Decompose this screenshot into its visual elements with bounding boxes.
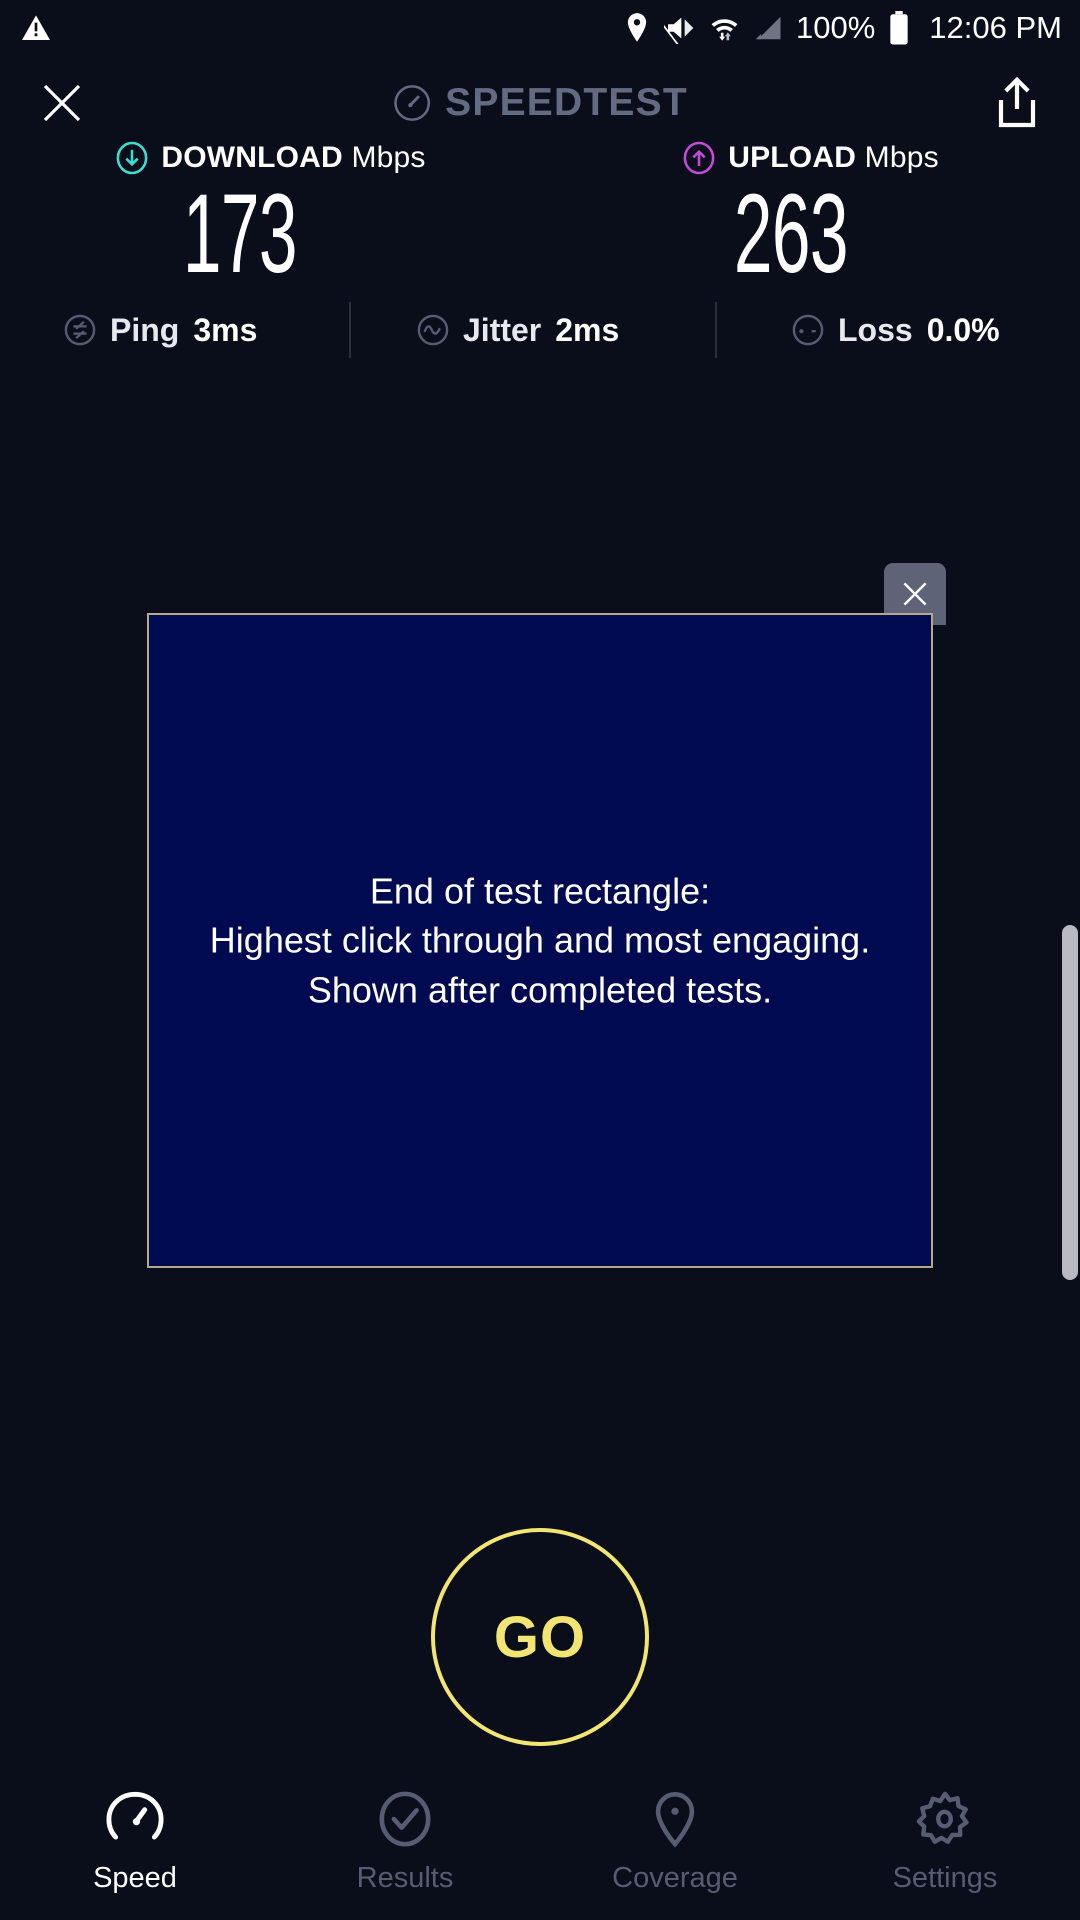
network-quality-row: Ping 3ms Jitter 2ms Los [0, 300, 1080, 360]
nav-item-speed[interactable]: Speed [0, 1790, 270, 1895]
speed-results: DOWNLOAD Mbps 173 UPLOAD Mbps 263 [0, 140, 1080, 290]
speed-gauge-icon [106, 1790, 164, 1848]
warning-triangle-icon [20, 12, 52, 44]
status-bar-time: 12:06 PM [929, 10, 1062, 46]
ping-value: 3ms [193, 312, 257, 349]
volume-muted-icon [664, 12, 696, 44]
upload-result: UPLOAD Mbps 263 [540, 140, 1080, 290]
battery-percent-label: 100% [796, 10, 875, 46]
wifi-transfer-icon [709, 12, 740, 44]
nav-item-results[interactable]: Results [270, 1790, 540, 1895]
battery-full-icon [888, 11, 910, 45]
divider [715, 302, 717, 358]
upload-arrow-circle-icon [681, 140, 717, 176]
ad-line-3: Shown after completed tests. [149, 965, 931, 1015]
speedtest-gauge-icon [392, 83, 432, 123]
loss-value: 0.0% [927, 312, 1000, 349]
loss-metric: Loss 0.0% [790, 312, 1000, 349]
nav-item-settings[interactable]: Settings [810, 1790, 1080, 1895]
jitter-value: 2ms [555, 312, 619, 349]
jitter-metric: Jitter 2ms [415, 312, 619, 349]
jitter-label: Jitter [463, 312, 541, 349]
ad-text: End of test rectangle: Highest click thr… [149, 866, 931, 1015]
ping-latency-icon [62, 312, 98, 348]
jitter-wave-icon [415, 312, 451, 348]
download-result: DOWNLOAD Mbps 173 [0, 140, 540, 290]
download-value: 173 [183, 178, 297, 290]
speedtest-logo: SPEEDTEST [392, 81, 688, 125]
ad-line-1: End of test rectangle: [149, 866, 931, 916]
upload-value: 263 [734, 178, 848, 290]
location-pin-icon [623, 12, 651, 44]
cellular-signal-icon [753, 12, 783, 44]
app-header: SPEEDTEST [0, 62, 1080, 144]
ad-line-2: Highest click through and most engaging. [149, 916, 931, 966]
divider [349, 302, 351, 358]
upload-label: UPLOAD Mbps [728, 141, 939, 175]
nav-label-speed: Speed [93, 1862, 177, 1895]
go-button[interactable]: GO [431, 1528, 649, 1746]
close-x-icon[interactable] [38, 79, 86, 127]
go-button-label: GO [494, 1604, 586, 1671]
packet-loss-icon [790, 312, 826, 348]
nav-label-results: Results [357, 1862, 454, 1895]
coverage-map-pin-icon [646, 1790, 704, 1848]
settings-gear-icon [916, 1790, 974, 1848]
nav-label-settings: Settings [893, 1862, 998, 1895]
ping-metric: Ping 3ms [62, 312, 257, 349]
vertical-scrollbar-thumb[interactable] [1062, 925, 1078, 1280]
ping-label: Ping [110, 312, 179, 349]
speedtest-app-screen: 100% 12:06 PM SP [0, 0, 1080, 1920]
share-upload-icon[interactable] [994, 77, 1040, 129]
download-label: DOWNLOAD Mbps [161, 141, 425, 175]
nav-item-coverage[interactable]: Coverage [540, 1790, 810, 1895]
results-check-circle-icon [376, 1790, 434, 1848]
loss-label: Loss [838, 312, 913, 349]
advertisement-banner[interactable]: End of test rectangle: Highest click thr… [147, 613, 933, 1268]
app-title: SPEEDTEST [445, 81, 688, 125]
status-bar: 100% 12:06 PM [0, 0, 1080, 56]
download-arrow-circle-icon [114, 140, 150, 176]
bottom-navigation: Speed Results Coverage [0, 1780, 1080, 1920]
nav-label-coverage: Coverage [612, 1862, 738, 1895]
